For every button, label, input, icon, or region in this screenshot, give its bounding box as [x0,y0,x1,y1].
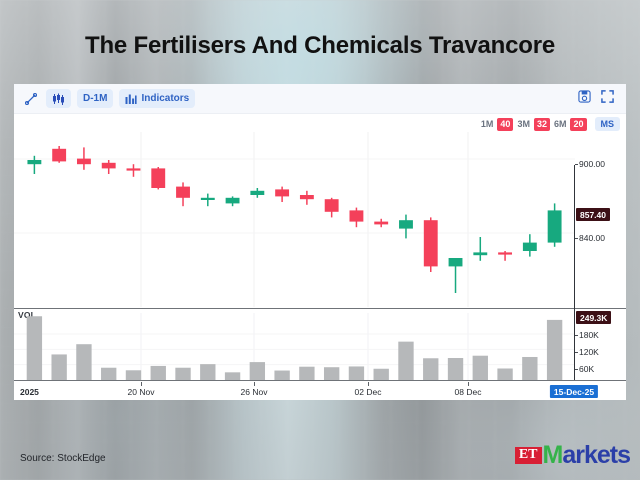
interval-selector[interactable]: D-1M [77,89,113,108]
price-tick-900: 900.00 [579,159,605,169]
x-label-20-nov: 20 Nov [128,387,155,397]
price-tick-840: 840.00 [579,233,605,243]
et-markets-logo: ET Markets [515,442,630,468]
timeframe-ms-button[interactable]: MS [595,117,621,131]
indicators-button[interactable]: Indicators [119,89,195,108]
x-axis-line [14,380,626,381]
timeframe-6m-label[interactable]: 6M [554,119,567,129]
fullscreen-icon[interactable] [601,90,614,108]
trendline-icon[interactable] [22,89,40,108]
last-volume-badge: 249.3K [576,311,611,324]
volume-tick-60k: 60K [579,364,594,374]
x-tick-mark [468,382,469,386]
timeframe-6m-badge: 20 [570,118,586,131]
volume-series [14,313,575,380]
et-logo-mark: ET [515,447,542,464]
candlestick-series [14,132,575,307]
chart-plot-area: VOL 900.00 857.40 840.00 249.3K 180K 120… [14,132,626,400]
volume-tick-120k: 120K [579,347,599,357]
x-axis-labels: 2025 20 Nov 26 Nov 02 Dec 08 Dec 15-Dec-… [14,382,626,400]
timeframe-3m-label[interactable]: 3M [517,119,530,129]
value-axis: 900.00 857.40 840.00 249.3K 180K 120K 60… [575,132,626,400]
timeframe-1m-badge: 40 [497,118,513,131]
chart-card: D-1M Indicators [14,84,626,400]
x-label-08-dec: 08 Dec [455,387,482,397]
x-tick-mark [368,382,369,386]
x-label-2025: 2025 [20,387,39,397]
save-icon[interactable] [578,90,591,108]
timeframe-selector: 1M 40 3M 32 6M 20 MS [481,117,620,131]
chart-toolbar: D-1M Indicators [14,84,626,114]
price-pane[interactable] [14,132,575,307]
markets-wordmark: Markets [543,442,631,468]
bars-icon [125,93,137,104]
indicators-label: Indicators [141,93,189,104]
current-date-badge: 15-Dec-25 [550,385,598,398]
timeframe-3m-badge: 32 [534,118,550,131]
candlestick-icon[interactable] [46,89,71,108]
x-label-02-dec: 02 Dec [355,387,382,397]
x-label-26-nov: 26 Nov [241,387,268,397]
x-tick-mark [254,382,255,386]
last-price-badge: 857.40 [576,208,610,221]
timeframe-1m-label[interactable]: 1M [481,119,494,129]
toolbar-actions [578,90,618,108]
pane-divider [14,308,626,309]
volume-tick-180k: 180K [579,330,599,340]
page-title: The Fertilisers And Chemicals Travancore [0,32,640,60]
source-label: Source: StockEdge [20,453,106,464]
x-tick-mark [141,382,142,386]
volume-pane[interactable] [14,313,575,380]
